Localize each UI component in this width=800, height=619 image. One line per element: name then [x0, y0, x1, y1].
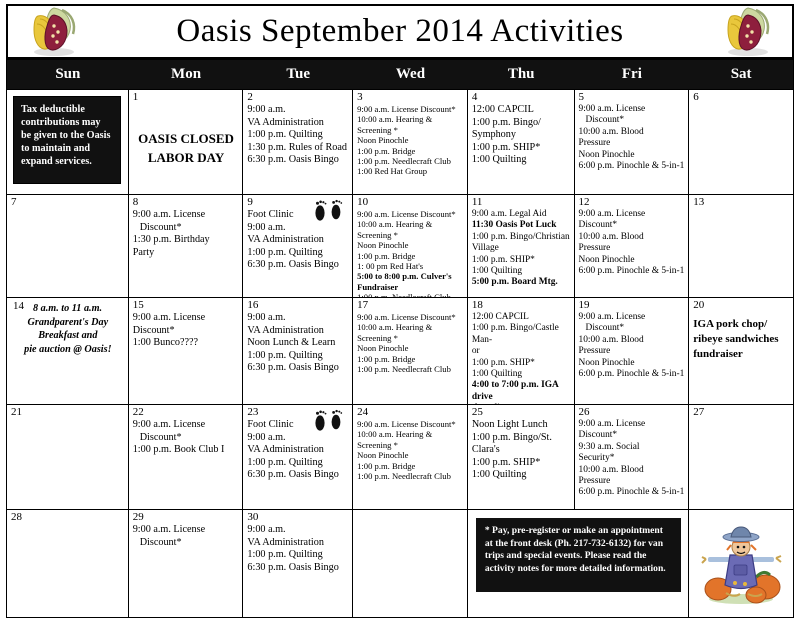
event-list: 9:00 a.m. LicenseDiscount*1:00 Bunco????: [133, 312, 240, 350]
event-item[interactable]: 1:00 p.m. SHIP*: [472, 358, 571, 369]
day-cell-20[interactable]: 20IGA pork chop/ribeye sandwichesfundrai…: [689, 298, 793, 404]
calendar-week-row: 28299:00 a.m. LicenseDiscount*309:00 a.m…: [7, 510, 793, 617]
event-item[interactable]: 9:00 a.m. License: [133, 209, 240, 222]
event-item[interactable]: 1:00 Quilting: [472, 469, 571, 482]
event-item[interactable]: Symphony: [472, 129, 571, 142]
event-item[interactable]: Discount*: [579, 220, 686, 231]
event-list: 9:00 a.m. LicenseDiscount*10:00 a.m. Blo…: [579, 104, 686, 172]
event-item[interactable]: Noon Pinochle: [357, 135, 464, 145]
weekday-header-tue: Tue: [243, 60, 353, 89]
event-item[interactable]: 1:00 p.m. Needlecraft Club: [357, 471, 464, 481]
event-list: 9:00 a.m.VA Administration1:00 p.m. Quil…: [247, 104, 349, 167]
event-item[interactable]: 9:00 a.m. License Discount*: [357, 209, 464, 219]
event-item[interactable]: 11:30 Oasis Pot Luck: [472, 220, 571, 231]
calendar-week-row: Tax deductible contributions may be give…: [7, 90, 793, 195]
day-cell-10[interactable]: 109:00 a.m. License Discount*10:00 a.m. …: [353, 195, 468, 297]
day-cell-22[interactable]: 229:00 a.m. LicenseDiscount*1:00 p.m. Bo…: [129, 405, 244, 509]
event-list: 12:00 CAPCIL1:00 p.m. Bingo/Symphony1:00…: [472, 104, 571, 167]
event-item[interactable]: 12:00 CAPCIL: [472, 104, 571, 117]
day-number: 3: [357, 92, 464, 103]
event-item[interactable]: Discount*: [579, 115, 686, 126]
event-item[interactable]: 12:00 CAPCIL: [472, 312, 571, 323]
event-item[interactable]: VA Administration: [247, 234, 349, 247]
event-list: Noon Light Lunch1:00 p.m. Bingo/St.Clara…: [472, 419, 571, 482]
event-item[interactable]: 9:00 a.m. License: [133, 524, 240, 537]
tax-deductible-note-cell[interactable]: Tax deductible contributions may be give…: [7, 90, 129, 194]
event-list: 9:00 a.m. LicenseDiscount*1:30 p.m. Birt…: [133, 209, 240, 259]
day-number: 22: [133, 407, 240, 418]
day-number: 14: [13, 301, 24, 312]
event-item[interactable]: 9:00 a.m. License: [133, 312, 240, 325]
day-number: 4: [472, 92, 571, 103]
event-item[interactable]: 9:00 a.m. License: [133, 419, 240, 432]
event-list: 12:00 CAPCIL1:00 p.m. Bingo/Castle Man-o…: [472, 312, 571, 404]
special-event-line: 8 a.m. to 11 a.m.: [11, 302, 125, 316]
event-item[interactable]: Discount*: [579, 430, 686, 441]
weekday-header-sun: Sun: [7, 60, 129, 89]
day-cell-6[interactable]: 6: [689, 90, 793, 194]
event-list: 9:00 a.m. LicenseDiscount*10:00 a.m. Blo…: [579, 209, 686, 277]
event-list: 9:00 a.m. License Discount*10:00 a.m. He…: [357, 104, 464, 177]
day-cell-18[interactable]: 1812:00 CAPCIL1:00 p.m. Bingo/Castle Man…: [468, 298, 575, 404]
event-item[interactable]: 1:00 p.m. SHIP*: [472, 142, 571, 155]
day-cell-5[interactable]: 59:00 a.m. LicenseDiscount*10:00 a.m. Bl…: [575, 90, 690, 194]
event-item[interactable]: 10:00 a.m. Hearing &: [357, 114, 464, 124]
day-number: 10: [357, 197, 464, 208]
event-item[interactable]: VA Administration: [247, 325, 349, 338]
scarecrow-pumpkins-icon: [698, 521, 784, 607]
day-number: 16: [247, 300, 349, 311]
day-number: 19: [579, 300, 686, 311]
event-list: 9:00 a.m. LicenseDiscount*9:30 a.m. Soci…: [579, 419, 686, 499]
event-item[interactable]: 1:00 Quilting: [472, 154, 571, 167]
day-number: 1: [133, 92, 240, 103]
event-item[interactable]: 1:00 p.m. Bridge: [357, 146, 464, 156]
event-item[interactable]: Noon Light Lunch: [472, 419, 571, 432]
weekday-header-sat: Sat: [689, 60, 793, 89]
weekday-header-fri: Fri: [575, 60, 690, 89]
day-cell-19[interactable]: 199:00 a.m. LicenseDiscount*10:00 a.m. B…: [575, 298, 690, 404]
fundraiser-line: fundraiser: [693, 347, 790, 362]
day-cell-21[interactable]: 21: [7, 405, 129, 509]
event-item[interactable]: 6:00 p.m. Pinochle & 5-in-1: [579, 369, 686, 380]
weekday-header-row: SunMonTueWedThuFriSat: [6, 59, 794, 90]
day-number: 5: [579, 92, 686, 103]
event-item[interactable]: Noon Pinochle: [579, 150, 686, 161]
corn-icon: [718, 2, 776, 60]
closed-notice-line: OASIS CLOSED: [138, 129, 234, 148]
event-item[interactable]: 1:30 p.m. Birthday: [133, 234, 240, 247]
day-number: 30: [247, 512, 349, 523]
day-number: 6: [693, 92, 790, 103]
footprints-icon: [311, 408, 347, 434]
event-item[interactable]: 6:30 p.m. Oasis Bingo: [247, 259, 349, 272]
event-list: 9:00 a.m.VA AdministrationNoon Lunch & L…: [247, 312, 349, 375]
day-cell-16[interactable]: 169:00 a.m.VA AdministrationNoon Lunch &…: [243, 298, 353, 404]
event-item[interactable]: 1:00 p.m. Bingo/St.: [472, 432, 571, 445]
day-number: 2: [247, 92, 349, 103]
event-list: 9:00 a.m. Legal Aid11:30 Oasis Pot Luck1…: [472, 209, 571, 289]
day-cell-14[interactable]: 148 a.m. to 11 a.m.Grandparent's DayBrea…: [7, 298, 129, 404]
day-number: 17: [357, 300, 464, 311]
event-item[interactable]: VA Administration: [247, 117, 349, 130]
event-item[interactable]: 1:00 p.m. Bridge: [357, 251, 464, 261]
event-item[interactable]: 10:00 a.m. Hearing & Screening *: [357, 219, 464, 240]
day-cell-27[interactable]: 27: [689, 405, 793, 509]
day-cell-4[interactable]: 412:00 CAPCIL1:00 p.m. Bingo/Symphony1:0…: [468, 90, 575, 194]
event-item[interactable]: 9:00 a.m.: [247, 312, 349, 325]
event-item[interactable]: thru dinner: [472, 403, 571, 404]
event-item[interactable]: 6:00 p.m. Pinochle & 5-in-1: [579, 266, 686, 277]
event-item[interactable]: Screening *: [357, 125, 464, 135]
day-cell-24[interactable]: 249:00 a.m. License Discount*10:00 a.m. …: [353, 405, 468, 509]
event-item[interactable]: 9:00 a.m. License: [579, 104, 686, 115]
event-item[interactable]: Village: [472, 243, 571, 254]
day-number: 28: [11, 512, 125, 523]
event-item[interactable]: Security*: [579, 453, 686, 464]
event-list: 9:00 a.m. License Discount*10:00 a.m. He…: [357, 312, 464, 374]
event-item[interactable]: 1:00 p.m. Quilting: [247, 350, 349, 363]
day-cell-29[interactable]: 299:00 a.m. LicenseDiscount*: [129, 510, 244, 617]
special-event-line: Grandparent's Day: [11, 316, 125, 330]
event-item[interactable]: 9:00 a.m.: [247, 104, 349, 117]
closed-notice-line: LABOR DAY: [148, 148, 224, 167]
event-item[interactable]: Party: [133, 247, 240, 260]
day-cell-23[interactable]: 23Foot Clinic9:00 a.m.VA Administration1…: [243, 405, 353, 509]
event-item[interactable]: VA Administration: [247, 537, 349, 550]
day-number: 7: [11, 197, 125, 208]
day-cell-7[interactable]: 7: [7, 195, 129, 297]
day-cell-25[interactable]: 25Noon Light Lunch1:00 p.m. Bingo/St.Cla…: [468, 405, 575, 509]
event-item[interactable]: Screening *: [357, 333, 464, 343]
event-item[interactable]: VA Administration: [247, 444, 349, 457]
page-title: Oasis September 2014 Activities: [176, 15, 623, 48]
closed-notice: OASIS CLOSEDLABOR DAY: [133, 104, 240, 194]
event-item[interactable]: Noon Lunch & Learn: [247, 337, 349, 350]
event-item[interactable]: 1: 00 pm Red Hat's: [357, 261, 464, 271]
event-item[interactable]: 1:00 p.m. SHIP*: [472, 457, 571, 470]
day-number: 27: [693, 407, 790, 418]
day-cell-30[interactable]: 309:00 a.m.VA Administration1:00 p.m. Qu…: [243, 510, 353, 617]
event-item[interactable]: 9:00 a.m. License Discount*: [357, 419, 464, 429]
event-item[interactable]: 9:00 a.m. License: [579, 312, 686, 323]
event-item[interactable]: 1:00 p.m. Bingo/Christian: [472, 232, 571, 243]
event-list: 9:00 a.m. License Discount*10:00 a.m. He…: [357, 209, 464, 297]
event-list: 9:00 a.m. LicenseDiscount*10:00 a.m. Blo…: [579, 312, 686, 380]
footnote-box[interactable]: * Pay, pre-register or make an appointme…: [468, 510, 689, 617]
corn-icon: [24, 2, 82, 60]
event-item[interactable]: Noon Pinochle: [357, 343, 464, 353]
event-item[interactable]: Pressure: [579, 476, 686, 487]
day-number: 29: [133, 512, 240, 523]
event-item[interactable]: Discount*: [133, 432, 240, 445]
event-item[interactable]: 10:00 a.m. Blood: [579, 465, 686, 476]
event-item[interactable]: 6:00 p.m. Pinochle & 5-in-1: [579, 487, 686, 498]
calendar-week-row: 789:00 a.m. LicenseDiscount*1:30 p.m. Bi…: [7, 195, 793, 298]
calendar-page: Oasis September 2014 Activities SunMonTu…: [0, 4, 800, 619]
event-item[interactable]: 6:30 p.m. Oasis Bingo: [247, 469, 349, 482]
event-list: 9:00 a.m. LicenseDiscount*: [133, 524, 240, 549]
event-item[interactable]: Noon Pinochle: [579, 358, 686, 369]
calendar-title-bar: Oasis September 2014 Activities: [6, 4, 794, 59]
event-item[interactable]: 9:00 a.m. Legal Aid: [472, 209, 571, 220]
event-item[interactable]: Discount*: [133, 537, 240, 550]
event-item[interactable]: Screening *: [357, 440, 464, 450]
day-number: 24: [357, 407, 464, 418]
event-item[interactable]: 5:00 p.m. Board Mtg.: [472, 277, 571, 288]
weekday-header-mon: Mon: [129, 60, 244, 89]
event-item[interactable]: Clara's: [472, 444, 571, 457]
event-item[interactable]: 1:00 p.m. Quilting: [247, 129, 349, 142]
event-item[interactable]: 1:00 p.m. Quilting: [247, 457, 349, 470]
special-event-block: 8 a.m. to 11 a.m.Grandparent's DayBreakf…: [11, 302, 125, 356]
event-item[interactable]: 6:30 p.m. Oasis Bingo: [247, 154, 349, 167]
day-cell-2[interactable]: 29:00 a.m.VA Administration1:00 p.m. Qui…: [243, 90, 353, 194]
event-item[interactable]: 1:00 p.m. Quilting: [247, 247, 349, 260]
day-cell-13[interactable]: 13: [689, 195, 793, 297]
day-cell-12[interactable]: 129:00 a.m. LicenseDiscount*10:00 a.m. B…: [575, 195, 690, 297]
weekday-header-wed: Wed: [353, 60, 468, 89]
day-cell-1[interactable]: 1OASIS CLOSEDLABOR DAY: [129, 90, 244, 194]
fundraiser-line: IGA pork chop/: [693, 317, 790, 332]
event-item[interactable]: 1:00 Red Hat Group: [357, 166, 464, 176]
event-item[interactable]: 1:00 p.m. Bridge: [357, 354, 464, 364]
event-item[interactable]: 10:00 a.m. Hearing &: [357, 322, 464, 332]
event-item[interactable]: 10:00 a.m. Blood: [579, 335, 686, 346]
fundraiser-line: ribeye sandwiches: [693, 332, 790, 347]
fundraiser-block: IGA pork chop/ribeye sandwichesfundraise…: [693, 317, 790, 362]
event-item[interactable]: 9:00 a.m. License Discount*: [357, 104, 464, 114]
day-number: 21: [11, 407, 125, 418]
special-event-line: Breakfast and: [11, 329, 125, 343]
event-item[interactable]: 4:00 to 7:00 p.m. IGA drive: [472, 380, 571, 403]
event-item[interactable]: 9:00 a.m. License Discount*: [357, 312, 464, 322]
footnote-text: * Pay, pre-register or make an appointme…: [476, 518, 681, 592]
weekday-header-thu: Thu: [468, 60, 575, 89]
day-number: 18: [472, 300, 571, 311]
day-cell-8[interactable]: 89:00 a.m. LicenseDiscount*1:30 p.m. Bir…: [129, 195, 244, 297]
day-cell-3[interactable]: 39:00 a.m. License Discount*10:00 a.m. H…: [353, 90, 468, 194]
event-item[interactable]: 1:00 Quilting: [472, 369, 571, 380]
event-item[interactable]: 6:30 p.m. Oasis Bingo: [247, 362, 349, 375]
event-item[interactable]: 1:00 p.m. Book Club I: [133, 444, 240, 457]
event-item[interactable]: 1:00 p.m. SHIP*: [472, 255, 571, 266]
event-item[interactable]: 1:00 p.m. Bingo/Castle Man-: [472, 323, 571, 346]
day-number: 25: [472, 407, 571, 418]
day-number: 15: [133, 300, 240, 311]
event-item[interactable]: 1:00 Quilting: [472, 266, 571, 277]
day-cell-17[interactable]: 179:00 a.m. License Discount*10:00 a.m. …: [353, 298, 468, 404]
day-cell-15[interactable]: 159:00 a.m. LicenseDiscount*1:00 Bunco??…: [129, 298, 244, 404]
event-item[interactable]: 9:00 a.m. License: [579, 419, 686, 430]
footprints-icon: [311, 198, 347, 224]
event-item[interactable]: 1:00 p.m. Bridge: [357, 461, 464, 471]
event-item[interactable]: Fundraiser: [357, 282, 464, 292]
event-list: 9:00 a.m. LicenseDiscount*1:00 p.m. Book…: [133, 419, 240, 457]
event-item[interactable]: Pressure: [579, 138, 686, 149]
event-item[interactable]: or: [472, 346, 571, 357]
event-item[interactable]: Pressure: [579, 346, 686, 357]
day-number: 12: [579, 197, 686, 208]
event-item[interactable]: 5:00 to 8:00 p.m. Culver's: [357, 271, 464, 281]
event-item[interactable]: 9:30 a.m. Social: [579, 442, 686, 453]
event-item[interactable]: 1:00 p.m. Quilting: [247, 549, 349, 562]
event-item[interactable]: Discount*: [133, 222, 240, 235]
event-item[interactable]: 6:00 p.m. Pinochle & 5-in-1: [579, 161, 686, 172]
day-number: 26: [579, 407, 686, 418]
event-item[interactable]: 10:00 a.m. Hearing &: [357, 429, 464, 439]
event-list: 9:00 a.m.VA Administration1:00 p.m. Quil…: [247, 524, 349, 574]
event-item[interactable]: Discount*: [579, 323, 686, 334]
day-cell-empty-4-3[interactable]: [353, 510, 468, 617]
event-item[interactable]: 1:00 p.m. Needlecraft Club: [357, 364, 464, 374]
event-item[interactable]: 9:00 a.m. License: [579, 209, 686, 220]
day-number: 11: [472, 197, 571, 208]
day-number: 8: [133, 197, 240, 208]
event-item[interactable]: 1:00 p.m. Needlecraft Club: [357, 156, 464, 166]
event-item[interactable]: Discount*: [133, 325, 240, 338]
calendar-week-row: 148 a.m. to 11 a.m.Grandparent's DayBrea…: [7, 298, 793, 405]
special-event-line: pie auction @ Oasis!: [11, 343, 125, 357]
day-cell-11[interactable]: 119:00 a.m. Legal Aid11:30 Oasis Pot Luc…: [468, 195, 575, 297]
event-item[interactable]: Noon Pinochle: [579, 255, 686, 266]
tax-deductible-note: Tax deductible contributions may be give…: [13, 96, 121, 184]
event-item[interactable]: 1:00 Bunco????: [133, 337, 240, 350]
event-list: 9:00 a.m. License Discount*10:00 a.m. He…: [357, 419, 464, 481]
calendar-grid: Tax deductible contributions may be give…: [6, 90, 794, 618]
calendar-week-row: 21229:00 a.m. LicenseDiscount*1:00 p.m. …: [7, 405, 793, 510]
event-item[interactable]: 1:30 p.m. Rules of Road: [247, 142, 349, 155]
day-number: 20: [693, 300, 790, 311]
event-item[interactable]: Noon Pinochle: [357, 240, 464, 250]
event-item[interactable]: Noon Pinochle: [357, 450, 464, 460]
event-item[interactable]: 1:00 p.m. Needlecraft Club: [357, 292, 464, 297]
day-cell-28[interactable]: 28: [7, 510, 129, 617]
day-number: 13: [693, 197, 790, 208]
scarecrow-illustration-cell[interactable]: [689, 510, 793, 617]
event-item[interactable]: 1:00 p.m. Bingo/: [472, 117, 571, 130]
event-item[interactable]: 10:00 a.m. Blood: [579, 127, 686, 138]
day-cell-9[interactable]: 9Foot Clinic9:00 a.m.VA Administration1:…: [243, 195, 353, 297]
event-item[interactable]: Pressure: [579, 243, 686, 254]
event-item[interactable]: 10:00 a.m. Blood: [579, 232, 686, 243]
day-cell-26[interactable]: 269:00 a.m. LicenseDiscount*9:30 a.m. So…: [575, 405, 690, 509]
event-item[interactable]: 9:00 a.m.: [247, 524, 349, 537]
event-item[interactable]: 6:30 p.m. Oasis Bingo: [247, 562, 349, 575]
